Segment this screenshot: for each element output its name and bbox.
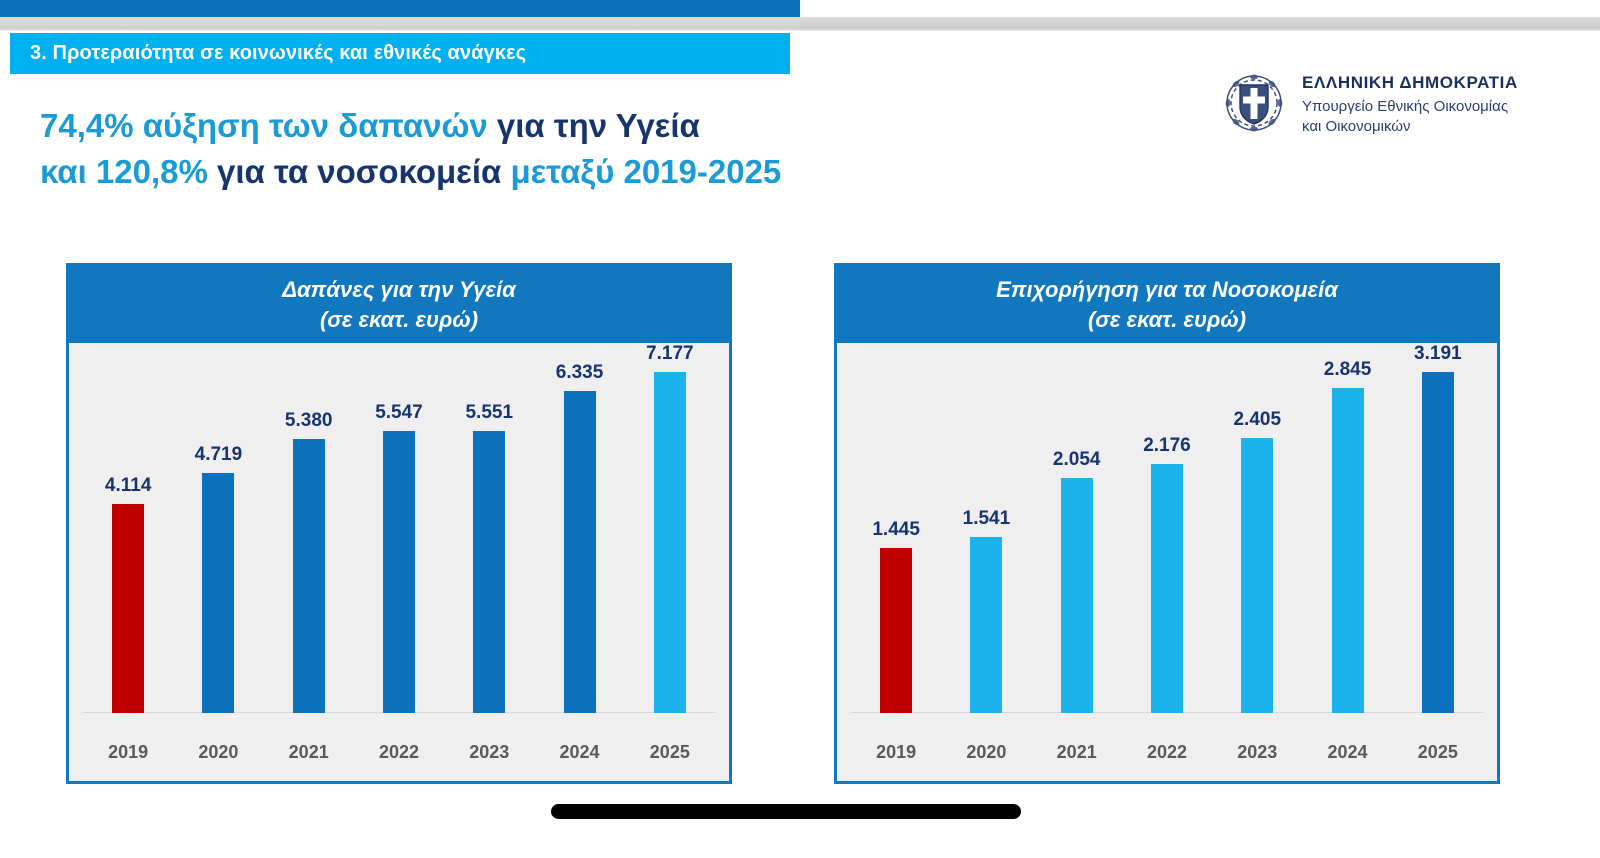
logo-line-3: και Οικονομικών bbox=[1302, 117, 1518, 137]
headline-rest-1: για την Υγεία bbox=[488, 107, 700, 144]
chart-title-health: Δαπάνες για την Υγεία (σε εκατ. ευρώ) bbox=[69, 266, 729, 343]
bar-rect bbox=[1061, 478, 1093, 713]
bar-value-label: 1.445 bbox=[872, 519, 920, 541]
bar-column: 2.0542021 bbox=[1032, 343, 1122, 713]
bar-column: 1.5412020 bbox=[941, 343, 1031, 713]
bar-value-label: 5.547 bbox=[375, 402, 423, 424]
bar-year-label: 2025 bbox=[1393, 742, 1483, 763]
bar-year-label: 2023 bbox=[444, 742, 534, 763]
bar-value-label: 3.191 bbox=[1414, 343, 1462, 365]
bar-year-label: 2020 bbox=[941, 742, 1031, 763]
bar-column: 2.8452024 bbox=[1302, 343, 1392, 713]
bar-rect bbox=[880, 548, 912, 713]
bar-rect bbox=[654, 372, 686, 713]
bar-value-label: 5.551 bbox=[465, 402, 513, 424]
bar-column: 1.4452019 bbox=[851, 343, 941, 713]
bar-column: 7.1772025 bbox=[625, 343, 715, 713]
bar-value-label: 7.177 bbox=[646, 343, 694, 365]
slide-canvas: 3. Προτεραιότητα σε κοινωνικές και εθνικ… bbox=[0, 31, 1600, 801]
bar-column: 3.1912025 bbox=[1393, 343, 1483, 713]
bar-rect bbox=[383, 431, 415, 713]
section-banner: 3. Προτεραιότητα σε κοινωνικές και εθνικ… bbox=[10, 33, 790, 74]
bar-year-label: 2022 bbox=[354, 742, 444, 763]
greek-coat-of-arms-icon bbox=[1222, 71, 1286, 135]
chart-title-health-main: Δαπάνες για την Υγεία bbox=[282, 275, 516, 304]
bar-rect bbox=[1241, 438, 1273, 713]
bar-column: 5.3802021 bbox=[264, 343, 354, 713]
chart-panel-hospitals: Επιχορήγηση για τα Νοσοκομεία (σε εκατ. … bbox=[834, 263, 1500, 784]
bar-value-label: 2.845 bbox=[1324, 359, 1372, 381]
chart-plot-health: 4.11420194.71920205.38020215.54720225.55… bbox=[69, 343, 729, 781]
bar-year-label: 2022 bbox=[1122, 742, 1212, 763]
chart-panel-health: Δαπάνες για την Υγεία (σε εκατ. ευρώ) 4.… bbox=[66, 263, 732, 784]
scrollbar-home-indicator[interactable] bbox=[551, 804, 1021, 819]
bar-group-hospitals: 1.44520191.54120202.05420212.17620222.40… bbox=[837, 343, 1497, 781]
bar-column: 5.5512023 bbox=[444, 343, 534, 713]
bar-column: 6.3352024 bbox=[534, 343, 624, 713]
logo-line-1: ΕΛΛΗΝΙΚΗ ΔΗΜΟΚΡΑΤΙΑ bbox=[1302, 73, 1518, 93]
bar-rect bbox=[473, 431, 505, 713]
bar-year-label: 2024 bbox=[534, 742, 624, 763]
bar-rect bbox=[1332, 388, 1364, 713]
bar-year-label: 2023 bbox=[1212, 742, 1302, 763]
headline-highlight-3: μεταξύ 2019-2025 bbox=[510, 153, 781, 190]
page-title: 74,4% αύξηση των δαπανών για την Υγεία κ… bbox=[40, 103, 1140, 194]
bar-column: 2.4052023 bbox=[1212, 343, 1302, 713]
section-banner-label: 3. Προτεραιότητα σε κοινωνικές και εθνικ… bbox=[10, 42, 526, 65]
bar-year-label: 2021 bbox=[264, 742, 354, 763]
headline-highlight-1: 74,4% αύξηση των δαπανών bbox=[40, 107, 488, 144]
bar-rect bbox=[293, 439, 325, 713]
headline-highlight-2: και 120,8% bbox=[40, 153, 208, 190]
bar-column: 4.7192020 bbox=[173, 343, 263, 713]
ministry-logo: ΕΛΛΗΝΙΚΗ ΔΗΜΟΚΡΑΤΙΑ Υπουργείο Εθνικής Οι… bbox=[1222, 69, 1518, 137]
bar-column: 2.1762022 bbox=[1122, 343, 1212, 713]
bar-value-label: 2.054 bbox=[1053, 449, 1101, 471]
previous-slide-edge bbox=[0, 0, 800, 17]
bar-rect bbox=[970, 537, 1002, 713]
bar-value-label: 4.114 bbox=[105, 475, 152, 497]
bar-rect bbox=[564, 391, 596, 713]
bar-value-label: 4.719 bbox=[195, 444, 243, 466]
bar-column: 4.1142019 bbox=[83, 343, 173, 713]
bar-value-label: 2.176 bbox=[1143, 435, 1191, 457]
bar-rect bbox=[1151, 464, 1183, 713]
bar-year-label: 2019 bbox=[851, 742, 941, 763]
chart-title-hospitals-main: Επιχορήγηση για τα Νοσοκομεία bbox=[996, 275, 1338, 304]
bar-value-label: 1.541 bbox=[963, 508, 1011, 530]
bar-year-label: 2021 bbox=[1032, 742, 1122, 763]
headline-rest-2: για τα νοσοκομεία bbox=[208, 153, 511, 190]
bar-rect bbox=[1422, 372, 1454, 713]
bar-year-label: 2020 bbox=[173, 742, 263, 763]
bar-year-label: 2019 bbox=[83, 742, 173, 763]
chart-title-hospitals-sub: (σε εκατ. ευρώ) bbox=[1088, 305, 1246, 334]
bar-value-label: 5.380 bbox=[285, 410, 333, 432]
slide-separator-left bbox=[0, 17, 800, 31]
bar-value-label: 2.405 bbox=[1233, 409, 1281, 431]
bar-rect bbox=[202, 473, 234, 713]
bar-year-label: 2025 bbox=[625, 742, 715, 763]
bar-group-health: 4.11420194.71920205.38020215.54720225.55… bbox=[69, 343, 729, 781]
bar-year-label: 2024 bbox=[1302, 742, 1392, 763]
chart-plot-hospitals: 1.44520191.54120202.05420212.17620222.40… bbox=[837, 343, 1497, 781]
chart-title-health-sub: (σε εκατ. ευρώ) bbox=[320, 305, 478, 334]
chart-title-hospitals: Επιχορήγηση για τα Νοσοκομεία (σε εκατ. … bbox=[837, 266, 1497, 343]
bar-value-label: 6.335 bbox=[556, 362, 604, 384]
logo-line-2: Υπουργείο Εθνικής Οικονομίας bbox=[1302, 97, 1518, 117]
bar-column: 5.5472022 bbox=[354, 343, 444, 713]
bar-rect bbox=[112, 504, 144, 713]
